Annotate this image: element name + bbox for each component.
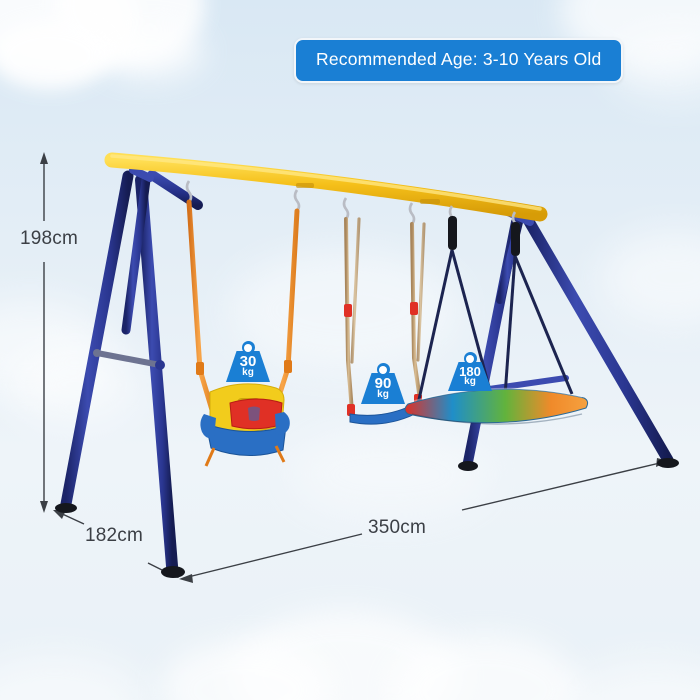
weight-icon-knob [464, 352, 477, 365]
height-dimension-label: 198cm [20, 228, 78, 250]
weight-badge-90kg: 90 kg [361, 363, 405, 404]
weight-icon-body: 90 kg [361, 373, 405, 404]
height-dimension-line [40, 152, 48, 513]
weight-icon-knob [377, 363, 390, 376]
right-a-frame [458, 212, 679, 471]
weight-badge-30kg: 30 kg [226, 341, 270, 382]
depth-dimension-label: 182cm [85, 525, 143, 547]
weight-badge-180kg: 180 kg [448, 352, 492, 391]
weight-icon-body: 180 kg [448, 362, 492, 391]
weight-unit: kg [226, 368, 270, 378]
swing-set-illustration [0, 0, 700, 700]
weight-unit: kg [448, 377, 492, 387]
swing-hook [344, 198, 414, 224]
dimension-lines [40, 152, 669, 583]
width-dimension-label: 350cm [368, 517, 426, 539]
weight-icon-knob [242, 341, 255, 354]
diagram-canvas: 30 kg 90 kg 180 kg 198cm 182cm 350cm Rec… [0, 0, 700, 700]
weight-unit: kg [361, 390, 405, 400]
recommended-age-banner: Recommended Age: 3-10 Years Old [294, 38, 623, 83]
toddler-swing [187, 181, 299, 466]
weight-icon-body: 30 kg [226, 351, 270, 382]
swing-hook [187, 181, 299, 211]
